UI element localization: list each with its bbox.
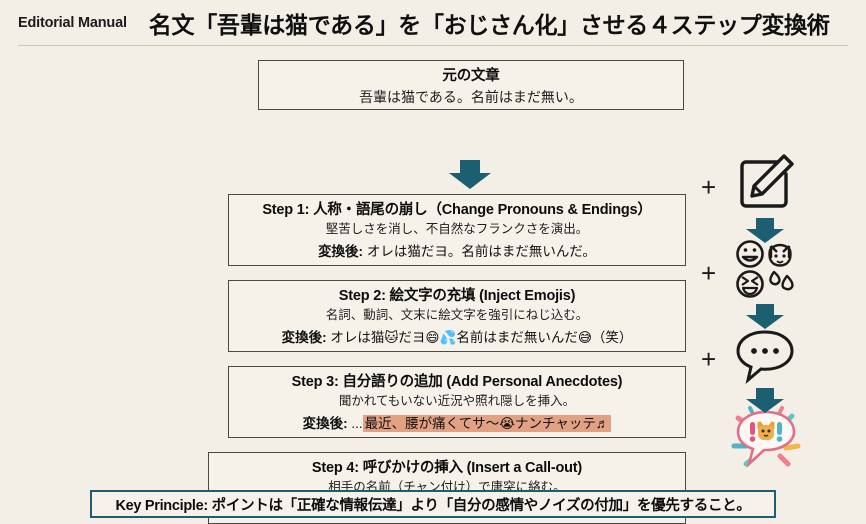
arrow-down-icon <box>744 218 786 244</box>
step-box-3: Step 3: 自分語りの追加 (Add Personal Anecdotes)… <box>228 366 686 438</box>
arrow-down-icon <box>447 160 493 190</box>
step-title: Step 2: 絵文字の充填 (Inject Emojis) <box>229 287 685 305</box>
pencil-square-icon <box>734 152 796 214</box>
key-principle-banner: Key Principle: ポイントは「正確な情報伝達」より「自分の感情やノイ… <box>90 490 776 518</box>
step-result: 変換後: オレは猫だヨ。名前はまだ無いんだ。 <box>229 243 685 261</box>
step-result-highlight: 最近、腰が痛くてサ〜😭ナンチャッテ♬ <box>363 415 612 432</box>
plus-sign-3: + <box>701 346 716 372</box>
original-title: 元の文章 <box>259 67 683 85</box>
eyebrow-label: Editorial Manual <box>18 15 127 31</box>
step-result-text: オレは猫だヨ。名前はまだ無いんだ。 <box>367 244 596 259</box>
header-divider <box>18 45 848 46</box>
step-result-label: 変換後: <box>303 416 348 431</box>
step-result: 変換後: ...最近、腰が痛くてサ〜😭ナンチャッテ♬ <box>229 415 685 433</box>
original-text: 吾輩は猫である。名前はまだ無い。 <box>259 88 683 106</box>
step-subtitle: 聞かれてもいない近況や照れ隠しを挿入。 <box>229 393 685 409</box>
step-title: Step 4: 呼びかけの挿入 (Insert a Call-out) <box>209 459 685 477</box>
original-text-box: 元の文章 吾輩は猫である。名前はまだ無い。 <box>258 60 684 110</box>
arrow-down-icon <box>744 304 786 330</box>
step-result-label: 変換後: <box>282 330 327 345</box>
step-result-label: 変換後: <box>318 244 363 259</box>
step-title: Step 3: 自分語りの追加 (Add Personal Anecdotes) <box>229 373 685 391</box>
plus-sign-2: + <box>701 260 716 286</box>
plus-sign-1: + <box>701 174 716 200</box>
step-result-text: ... <box>351 416 362 431</box>
step-subtitle: 名詞、動詞、文末に絵文字を強引にねじ込む。 <box>229 307 685 323</box>
step-box-1: Step 1: 人称・語尾の崩し（Change Pronouns & Endin… <box>228 194 686 266</box>
speech-bubble-icon <box>734 324 796 386</box>
icon-rail: + + + <box>694 52 866 482</box>
step-subtitle: 堅苦しさを消し、不自然なフランクさを演出。 <box>229 221 685 237</box>
key-principle-text: Key Principle: ポイントは「正確な情報伝達」より「自分の感情やノイ… <box>115 494 750 515</box>
arrow-down-icon <box>744 388 786 414</box>
step-box-2: Step 2: 絵文字の充填 (Inject Emojis) 名詞、動詞、文末に… <box>228 280 686 352</box>
page-title: 名文「吾輩は猫である」を「おじさん化」させる４ステップ変換術 <box>149 6 830 40</box>
step-title: Step 1: 人称・語尾の崩し（Change Pronouns & Endin… <box>229 201 685 219</box>
page-header: Editorial Manual 名文「吾輩は猫である」を「おじさん化」させる４… <box>0 0 866 46</box>
step-result-text: オレは猫🐱だヨ😄💦名前はまだ無いんだ😅（笑） <box>330 330 632 345</box>
step-result: 変換後: オレは猫🐱だヨ😄💦名前はまだ無いんだ😅（笑） <box>229 329 685 347</box>
emoji-cluster-icon <box>734 238 796 300</box>
